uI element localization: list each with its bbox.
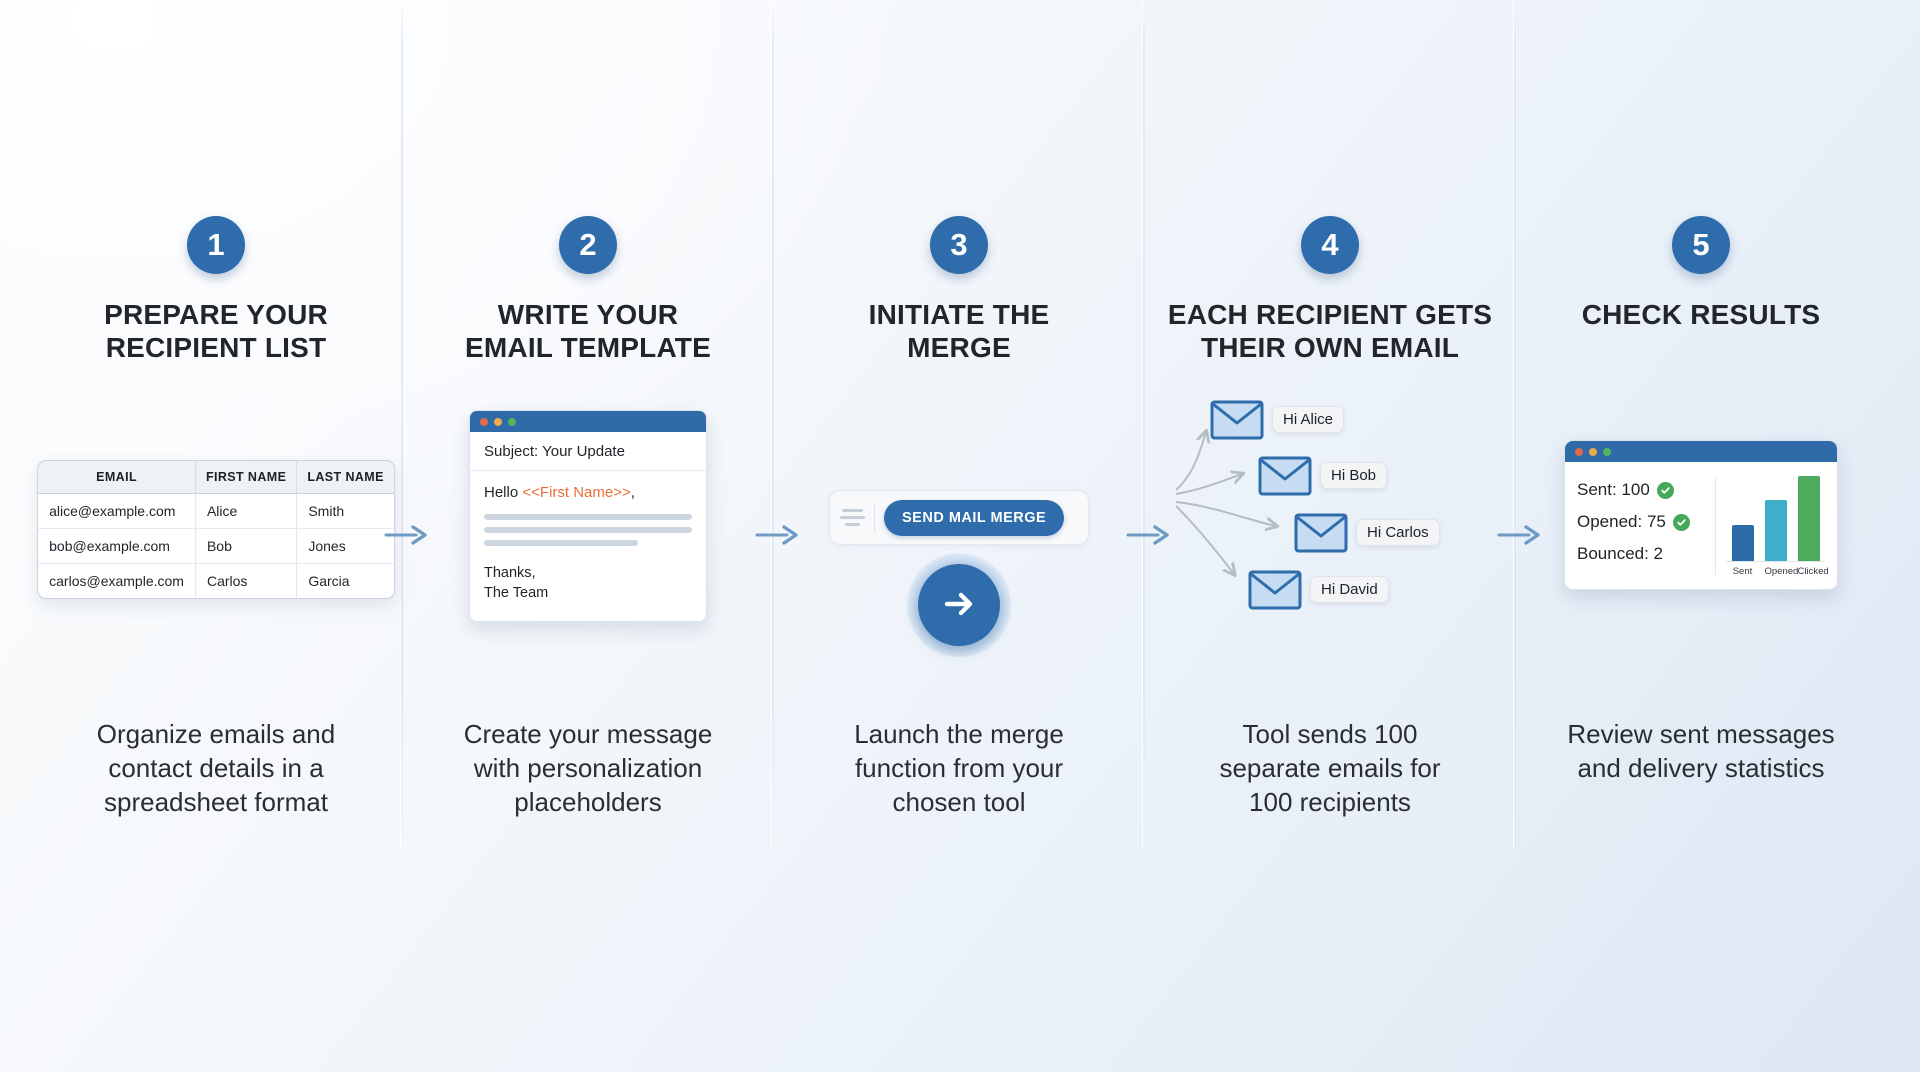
step-title-4: EACH RECIPIENT GETS THEIR OWN EMAIL	[1138, 298, 1522, 364]
step-number-badge-3: 3	[930, 216, 988, 274]
x-label-opened: Opened	[1765, 566, 1787, 577]
body-line	[484, 514, 692, 520]
envelope-icon	[1258, 456, 1312, 496]
table-row: carlos@example.com Carlos Garcia	[38, 564, 394, 599]
step-description-3: Launch the merge function from your chos…	[767, 718, 1151, 819]
step-visual-3: SEND MAIL MERGE	[767, 490, 1151, 740]
recipient-table: EMAIL FIRST NAME LAST NAME alice@example…	[38, 461, 394, 598]
merge-placeholder: <<First Name>>	[522, 484, 630, 501]
close-dot-icon[interactable]	[1575, 448, 1583, 456]
x-label-sent: Sent	[1732, 566, 1754, 577]
step-column-1: 1 PREPARE YOUR RECIPIENT LIST EMAIL FIRS…	[24, 0, 408, 1072]
personalized-bubble: Hi Alice	[1272, 406, 1344, 433]
step-title-1-line2: RECIPIENT LIST	[24, 331, 408, 364]
delivery-stats-list: Sent: 100 Opened: 75 Bounc	[1577, 476, 1705, 577]
envelope-icon	[1210, 400, 1264, 440]
table-row: bob@example.com Bob Jones	[38, 529, 394, 564]
menu-icon[interactable]	[830, 509, 874, 526]
step-description-1: Organize emails and contact details in a…	[24, 718, 408, 819]
greeting-suffix: ,	[631, 484, 635, 501]
desc-line: 100 recipients	[1138, 786, 1522, 820]
step-title-3-line2: MERGE	[767, 331, 1151, 364]
step-visual-1: EMAIL FIRST NAME LAST NAME alice@example…	[24, 420, 408, 670]
signature-line: The Team	[484, 584, 692, 604]
email-subject-line: Subject: Your Update	[470, 432, 706, 471]
signature-line: Thanks,	[484, 564, 692, 584]
cell-first-name: Alice	[195, 494, 296, 529]
desc-line: Organize emails and	[24, 718, 408, 752]
step-number-badge-2: 2	[559, 216, 617, 274]
step-title-5: CHECK RESULTS	[1509, 298, 1893, 331]
step-number-badge-5: 5	[1672, 216, 1730, 274]
cell-first-name: Bob	[195, 529, 296, 564]
table-header-row: EMAIL FIRST NAME LAST NAME	[38, 461, 394, 494]
chart-x-axis-labels: Sent Opened Clicked	[1726, 562, 1825, 577]
step-title-1-line1: PREPARE YOUR	[24, 298, 408, 331]
results-bar-chart: Sent Opened Clicked	[1726, 476, 1825, 577]
step-number-badge-4: 4	[1301, 216, 1359, 274]
bar-sent	[1732, 525, 1754, 561]
email-template-window: Subject: Your Update Hello <<First Name>…	[469, 410, 707, 622]
check-icon	[1673, 514, 1690, 531]
column-header-first-name: FIRST NAME	[195, 461, 296, 494]
step-title-2: WRITE YOUR EMAIL TEMPLATE	[396, 298, 780, 364]
step-visual-5: Sent: 100 Opened: 75 Bounc	[1509, 420, 1893, 670]
step-visual-2: Subject: Your Update Hello <<First Name>…	[396, 420, 780, 670]
stat-label: Bounced: 2	[1577, 544, 1663, 564]
step-number-badge-1: 1	[187, 216, 245, 274]
table-row: alice@example.com Alice Smith	[38, 494, 394, 529]
desc-line: chosen tool	[767, 786, 1151, 820]
stat-opened: Opened: 75	[1577, 512, 1705, 532]
cell-email: bob@example.com	[38, 529, 195, 564]
cell-email: carlos@example.com	[38, 564, 195, 599]
desc-line: Tool sends 100	[1138, 718, 1522, 752]
merge-toolbar: SEND MAIL MERGE	[829, 490, 1089, 545]
step-description-4: Tool sends 100 separate emails for 100 r…	[1138, 718, 1522, 819]
desc-line: and delivery statistics	[1509, 752, 1893, 786]
stat-bounced: Bounced: 2	[1577, 544, 1705, 564]
step-title-1: PREPARE YOUR RECIPIENT LIST	[24, 298, 408, 364]
send-mail-merge-button[interactable]: SEND MAIL MERGE	[884, 500, 1064, 536]
step-column-3: 3 INITIATE THE MERGE SEND MAIL MERGE	[767, 0, 1151, 1072]
step-title-4-line2: THEIR OWN EMAIL	[1138, 331, 1522, 364]
arrow-right-icon	[937, 582, 981, 629]
step-column-2: 2 WRITE YOUR EMAIL TEMPLATE Subject: You…	[396, 0, 780, 1072]
toolbar-divider	[874, 503, 875, 533]
desc-line: contact details in a	[24, 752, 408, 786]
desc-line: placeholders	[396, 786, 780, 820]
check-icon	[1657, 482, 1674, 499]
desc-line: separate emails for	[1138, 752, 1522, 786]
desc-line: Review sent messages	[1509, 718, 1893, 752]
close-dot-icon[interactable]	[480, 418, 488, 426]
stat-label: Sent: 100	[1577, 480, 1650, 500]
body-line	[484, 527, 692, 533]
column-header-email: EMAIL	[38, 461, 195, 494]
personalized-bubble: Hi Bob	[1320, 462, 1387, 489]
cell-email: alice@example.com	[38, 494, 195, 529]
personalized-bubble: Hi David	[1310, 576, 1389, 603]
maximize-dot-icon[interactable]	[1603, 448, 1611, 456]
cell-last-name: Jones	[297, 529, 394, 564]
recipient-spreadsheet: EMAIL FIRST NAME LAST NAME alice@example…	[37, 460, 395, 599]
cell-last-name: Garcia	[297, 564, 394, 599]
desc-line: spreadsheet format	[24, 786, 408, 820]
infographic-canvas: 1 PREPARE YOUR RECIPIENT LIST EMAIL FIRS…	[0, 0, 1920, 1072]
step-visual-4: Hi Alice Hi Bob Hi Carlos	[1138, 420, 1522, 670]
cell-first-name: Carlos	[195, 564, 296, 599]
window-titlebar	[1565, 441, 1837, 462]
email-body: Hello <<First Name>>, Thanks, The Team	[470, 471, 706, 621]
greeting-prefix: Hello	[484, 484, 522, 501]
step-title-2-line2: EMAIL TEMPLATE	[396, 331, 780, 364]
step-title-3: INITIATE THE MERGE	[767, 298, 1151, 364]
stat-sent: Sent: 100	[1577, 480, 1705, 500]
step-column-4: 4 EACH RECIPIENT GETS THEIR OWN EMAIL	[1138, 0, 1522, 1072]
launch-merge-button[interactable]	[918, 564, 1000, 646]
results-body: Sent: 100 Opened: 75 Bounc	[1565, 462, 1837, 589]
body-line	[484, 540, 638, 546]
email-body-placeholder-lines	[484, 514, 692, 546]
results-window: Sent: 100 Opened: 75 Bounc	[1564, 440, 1838, 590]
email-fanout: Hi Alice Hi Bob Hi Carlos	[1138, 370, 1522, 620]
minimize-dot-icon[interactable]	[1589, 448, 1597, 456]
step-column-5: 5 CHECK RESULTS Sent: 100	[1509, 0, 1893, 1072]
desc-line: Create your message	[396, 718, 780, 752]
cell-last-name: Smith	[297, 494, 394, 529]
maximize-dot-icon[interactable]	[508, 418, 516, 426]
minimize-dot-icon[interactable]	[494, 418, 502, 426]
x-label-clicked: Clicked	[1798, 566, 1820, 577]
stat-label: Opened: 75	[1577, 512, 1666, 532]
step-title-5-line1: CHECK RESULTS	[1509, 298, 1893, 331]
chart-plot-area	[1726, 476, 1825, 562]
window-titlebar	[470, 411, 706, 432]
step-title-3-line1: INITIATE THE	[767, 298, 1151, 331]
column-header-last-name: LAST NAME	[297, 461, 394, 494]
step-title-4-line1: EACH RECIPIENT GETS	[1138, 298, 1522, 331]
panel-divider	[1715, 478, 1716, 575]
step-title-2-line1: WRITE YOUR	[396, 298, 780, 331]
desc-line: function from your	[767, 752, 1151, 786]
merge-launch-area	[904, 550, 1014, 660]
envelope-icon	[1294, 513, 1348, 553]
step-description-2: Create your message with personalization…	[396, 718, 780, 819]
desc-line: with personalization	[396, 752, 780, 786]
email-greeting: Hello <<First Name>>,	[484, 484, 692, 501]
envelope-icon	[1248, 570, 1302, 610]
personalized-bubble: Hi Carlos	[1356, 519, 1440, 546]
bar-clicked	[1798, 476, 1820, 561]
desc-line: Launch the merge	[767, 718, 1151, 752]
bar-opened	[1765, 500, 1787, 561]
email-signature: Thanks, The Team	[484, 564, 692, 603]
step-description-5: Review sent messages and delivery statis…	[1509, 718, 1893, 786]
